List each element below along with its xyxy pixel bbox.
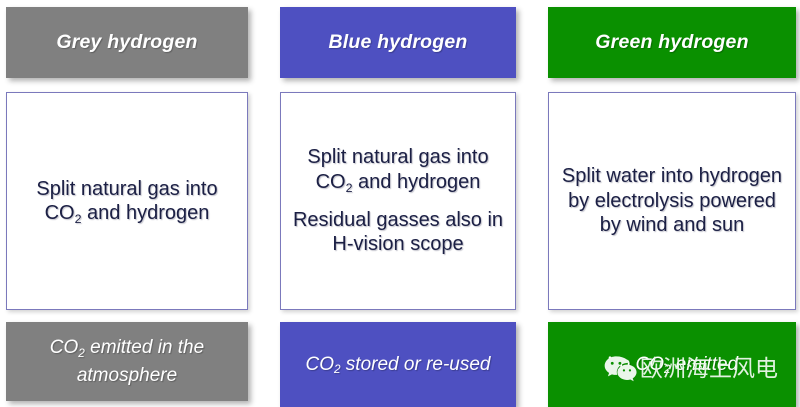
outcome-text-post: emitted bbox=[671, 354, 739, 375]
outcome-card-blue-hydrogen: CO2 stored or re-used bbox=[280, 322, 516, 407]
co2-subscript: 2 bbox=[664, 363, 671, 376]
co2-formula: CO bbox=[305, 354, 334, 375]
paragraph-text-post: and hydrogen bbox=[82, 202, 210, 224]
co2-subscript: 2 bbox=[334, 363, 341, 376]
paragraph-text-pre: Split water into hydrogen by electrolysi… bbox=[562, 165, 782, 236]
description-paragraph: Split natural gas into CO2 and hydrogen bbox=[291, 145, 505, 194]
column-green-hydrogen: Green hydrogen Split water into hydrogen… bbox=[548, 0, 796, 407]
co2-subscript: 2 bbox=[346, 181, 353, 195]
co2-subscript: 2 bbox=[75, 212, 82, 226]
description-paragraph: Split water into hydrogen by electrolysi… bbox=[559, 164, 785, 237]
column-grey-hydrogen: Grey hydrogen Split natural gas into CO2… bbox=[6, 0, 248, 407]
description-paragraph: Residual gasses also in H-vision scope bbox=[291, 208, 505, 257]
co2-subscript: 2 bbox=[78, 347, 85, 360]
co2-formula: CO bbox=[50, 337, 79, 358]
paragraph-text-pre: Residual gasses also in H-vision scope bbox=[293, 209, 503, 255]
header-card-green-hydrogen: Green hydrogen bbox=[548, 7, 796, 78]
header-card-grey-hydrogen: Grey hydrogen bbox=[6, 7, 248, 78]
description-card-blue-hydrogen: Split natural gas into CO2 and hydrogen … bbox=[280, 92, 516, 310]
header-label-green-hydrogen: Green hydrogen bbox=[595, 31, 748, 54]
paragraph-text-post: and hydrogen bbox=[353, 171, 481, 193]
description-card-green-hydrogen: Split water into hydrogen by electrolysi… bbox=[548, 92, 796, 310]
outcome-text-post: stored or re-used bbox=[341, 354, 491, 375]
outcome-text-pre: No bbox=[606, 354, 636, 375]
header-label-grey-hydrogen: Grey hydrogen bbox=[56, 31, 197, 54]
outcome-card-grey-hydrogen: CO2 emitted in the atmosphere bbox=[6, 322, 248, 401]
outcome-label-blue-hydrogen: CO2 stored or re-used bbox=[305, 351, 490, 379]
description-card-grey-hydrogen: Split natural gas into CO2 and hydrogen bbox=[6, 92, 248, 310]
header-card-blue-hydrogen: Blue hydrogen bbox=[280, 7, 516, 78]
outcome-card-green-hydrogen: No CO2 emitted bbox=[548, 322, 796, 407]
hydrogen-colour-comparison-diagram: Grey hydrogen Split natural gas into CO2… bbox=[0, 0, 800, 407]
outcome-text-post: emitted in the atmosphere bbox=[77, 337, 204, 386]
co2-formula: CO bbox=[635, 354, 664, 375]
header-label-blue-hydrogen: Blue hydrogen bbox=[328, 31, 467, 54]
outcome-label-green-hydrogen: No CO2 emitted bbox=[606, 351, 738, 379]
outcome-label-grey-hydrogen: CO2 emitted in the atmosphere bbox=[6, 334, 248, 389]
co2-formula: CO bbox=[316, 171, 346, 193]
co2-formula: CO bbox=[45, 202, 75, 224]
paragraph-text-pre: Split natural gas into bbox=[307, 146, 488, 168]
description-paragraph: Split natural gas into CO2 and hydrogen bbox=[17, 177, 237, 226]
column-blue-hydrogen: Blue hydrogen Split natural gas into CO2… bbox=[280, 0, 516, 407]
paragraph-text-pre: Split natural gas into bbox=[36, 178, 217, 200]
